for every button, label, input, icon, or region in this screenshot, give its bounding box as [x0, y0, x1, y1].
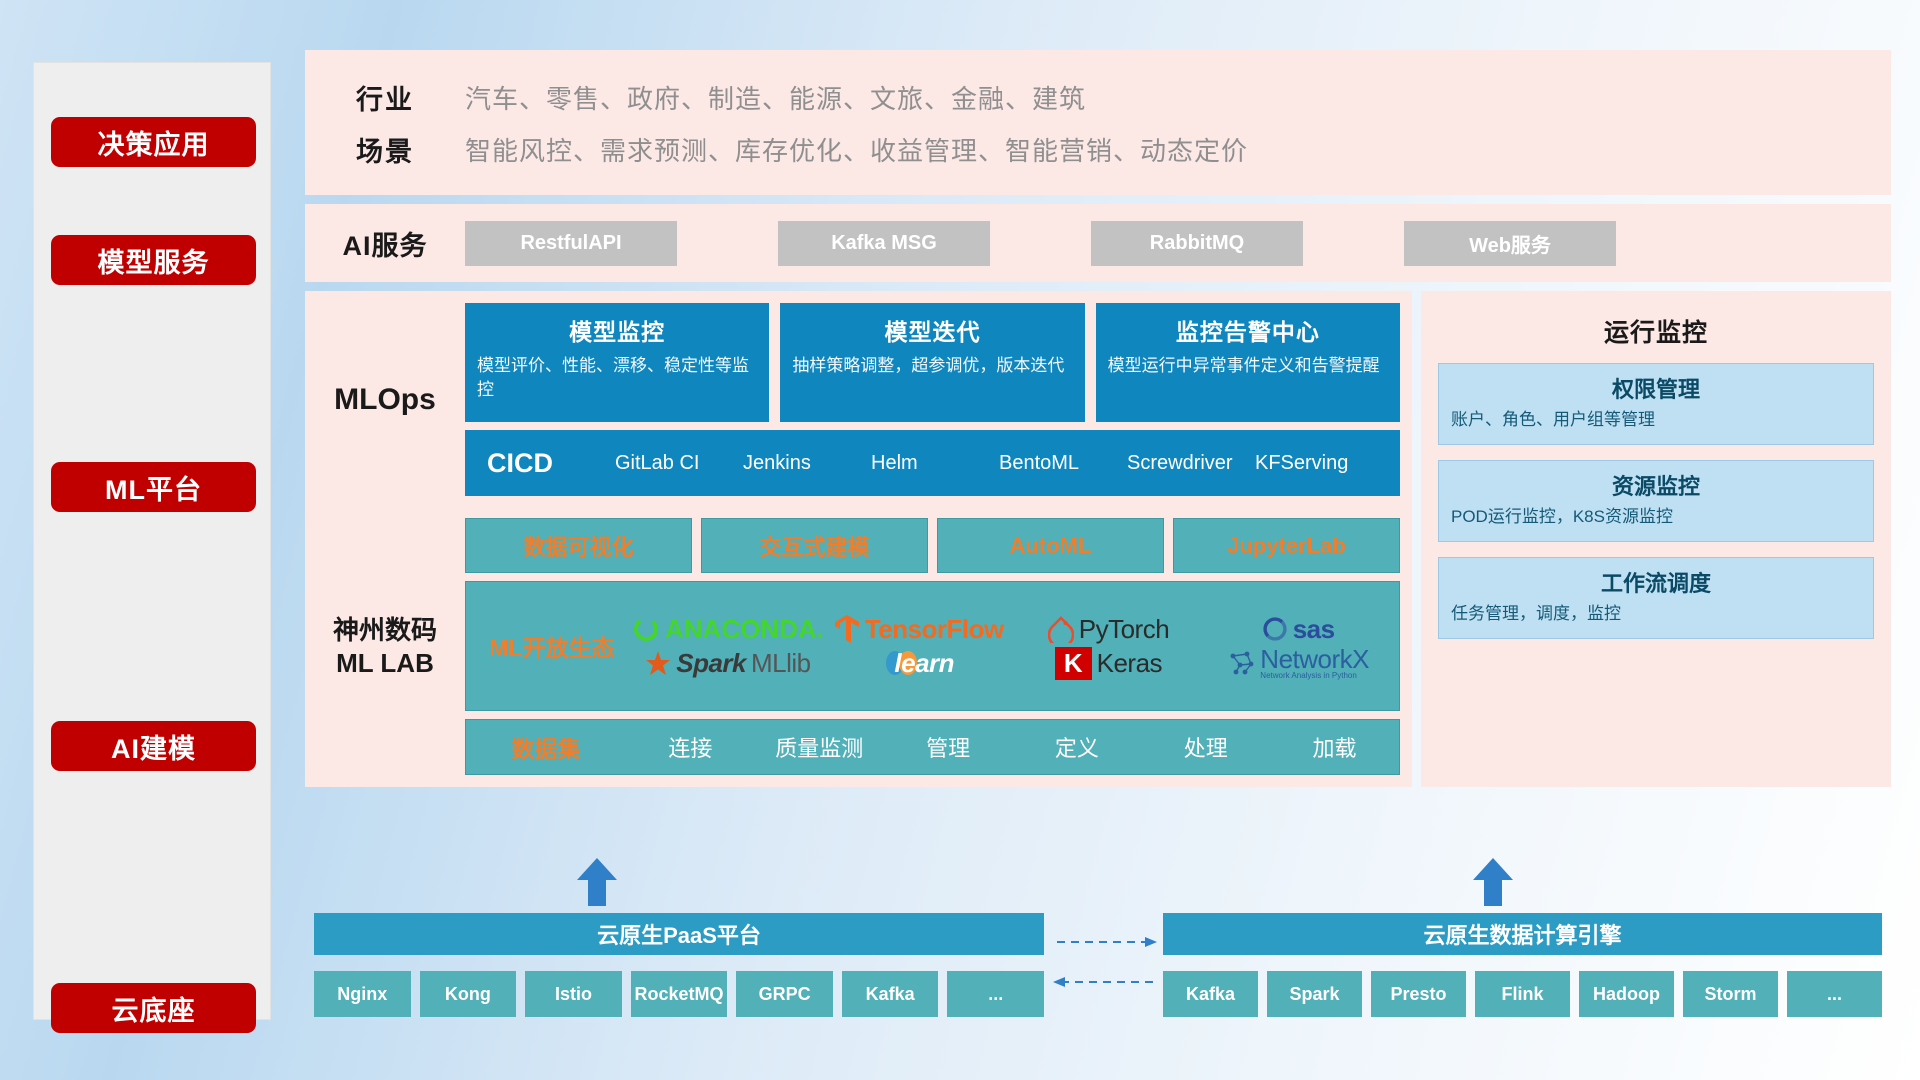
- ai-service-web[interactable]: Web服务: [1404, 221, 1616, 266]
- networkx-sublabel: Network Analysis in Python: [1260, 672, 1369, 680]
- arrow-up-compute-icon: [1471, 858, 1515, 906]
- ml-open-ecosystem-label: ML开放生态: [472, 629, 632, 663]
- ml-lab-label-line1: 神州数码: [305, 614, 465, 647]
- card-title: 监控告警中心: [1108, 313, 1388, 347]
- ml-open-ecosystem: ML开放生态 ANACONDA.: [465, 581, 1400, 711]
- mlops-label: MLOps: [305, 383, 465, 417]
- networkx-logo: NetworkX Network Analysis in Python: [1227, 646, 1369, 680]
- mlops-card-model-iteration[interactable]: 模型迭代 抽样策略调整，超参调优，版本迭代: [780, 303, 1084, 422]
- scenario-value: 智能风控、需求预测、库存优化、收益管理、智能营销、动态定价: [465, 131, 1248, 168]
- scikit-learn-logo: learn: [883, 648, 954, 679]
- rail-item-decision-app[interactable]: 决策应用: [51, 117, 256, 167]
- compute-chip-spark[interactable]: Spark: [1267, 971, 1362, 1017]
- anaconda-icon: [632, 615, 660, 643]
- run-monitor-card-resource[interactable]: 资源监控 POD运行监控，K8S资源监控: [1438, 460, 1874, 542]
- cloud-chip-more[interactable]: ...: [947, 971, 1044, 1017]
- sas-icon: [1262, 616, 1288, 642]
- ml-lab-label: 神州数码 ML LAB: [305, 614, 465, 679]
- card-title: 资源监控: [1451, 469, 1861, 501]
- dataset-item-quality[interactable]: 质量监测: [755, 731, 884, 763]
- industry-label: 行业: [305, 78, 465, 117]
- cloud-chip-kong[interactable]: Kong: [420, 971, 517, 1017]
- tensorflow-logo: TensorFlow: [834, 614, 1004, 645]
- anaconda-label: ANACONDA.: [665, 614, 824, 645]
- card-title: 模型迭代: [792, 313, 1072, 347]
- cloud-chip-nginx[interactable]: Nginx: [314, 971, 411, 1017]
- tensorflow-icon: [834, 614, 860, 644]
- ai-service-band: AI服务 RestfulAPI Kafka MSG RabbitMQ Web服务: [305, 204, 1891, 282]
- dataset-item-define[interactable]: 定义: [1012, 731, 1141, 763]
- rail-item-cloud-base[interactable]: 云底座: [51, 983, 256, 1033]
- cloud-compute-title: 云原生数据计算引擎: [1163, 913, 1882, 955]
- cloud-paas-chips: Nginx Kong Istio RocketMQ GRPC Kafka ...: [314, 971, 1044, 1017]
- cicd-item-screwdriver[interactable]: Screwdriver: [1127, 452, 1255, 475]
- ml-lab-tool-automl[interactable]: AutoML: [937, 518, 1164, 573]
- compute-chip-more[interactable]: ...: [1787, 971, 1882, 1017]
- rail-item-ml-platform[interactable]: ML平台: [51, 462, 256, 512]
- card-title: 权限管理: [1451, 372, 1861, 404]
- mlops-card-alert-center[interactable]: 监控告警中心 模型运行中异常事件定义和告警提醒: [1096, 303, 1400, 422]
- rail-item-ai-modeling[interactable]: AI建模: [51, 721, 256, 771]
- dataset-item-process[interactable]: 处理: [1141, 731, 1270, 763]
- dataset-item-load[interactable]: 加载: [1270, 731, 1399, 763]
- cloud-paas-column: 云原生PaaS平台 Nginx Kong Istio RocketMQ GRPC…: [314, 913, 1044, 1017]
- mllib-label: MLlib: [751, 648, 811, 679]
- tensorflow-label: TensorFlow: [865, 614, 1004, 645]
- card-desc: 账户、角色、用户组等管理: [1451, 409, 1861, 432]
- dataset-item-connect[interactable]: 连接: [626, 731, 755, 763]
- industry-row: 行业 汽车、零售、政府、制造、能源、文旅、金融、建筑: [305, 72, 1891, 122]
- compute-chip-hadoop[interactable]: Hadoop: [1579, 971, 1674, 1017]
- cloud-base-layer: 云原生PaaS平台 Nginx Kong Istio RocketMQ GRPC…: [305, 888, 1891, 1038]
- bidirectional-dashed-link-icon: [1053, 926, 1157, 998]
- ml-lab-band: 神州数码 ML LAB 数据可视化 交互式建模 AutoML JupyterLa…: [305, 508, 1412, 787]
- keras-label: Keras: [1097, 648, 1162, 679]
- ecosystem-logo-grid: ANACONDA. TensorFlow: [632, 612, 1393, 680]
- cicd-title: CICD: [487, 448, 615, 479]
- ml-lab-label-line2: ML LAB: [305, 647, 465, 680]
- dataset-label: 数据集: [466, 730, 626, 764]
- compute-chip-storm[interactable]: Storm: [1683, 971, 1778, 1017]
- cloud-compute-column: 云原生数据计算引擎 Kafka Spark Presto Flink Hadoo…: [1163, 913, 1882, 1017]
- industry-scenario-band: 行业 汽车、零售、政府、制造、能源、文旅、金融、建筑 场景 智能风控、需求预测、…: [305, 50, 1891, 195]
- sas-label: sas: [1293, 614, 1335, 645]
- spark-label: Spark: [676, 648, 746, 679]
- ai-service-rabbitmq[interactable]: RabbitMQ: [1091, 221, 1303, 266]
- card-desc: POD运行监控，K8S资源监控: [1451, 506, 1861, 529]
- scenario-label: 场景: [305, 130, 465, 169]
- ml-lab-tools: 数据可视化 交互式建模 AutoML JupyterLab: [465, 518, 1400, 573]
- architecture-main: 行业 汽车、零售、政府、制造、能源、文旅、金融、建筑 场景 智能风控、需求预测、…: [305, 50, 1891, 796]
- ai-service-label: AI服务: [305, 224, 465, 263]
- ai-service-restfulapi[interactable]: RestfulAPI: [465, 221, 677, 266]
- cloud-paas-title: 云原生PaaS平台: [314, 913, 1044, 955]
- cloud-chip-grpc[interactable]: GRPC: [736, 971, 833, 1017]
- card-desc: 任务管理，调度，监控: [1451, 603, 1861, 626]
- mlops-cards: 模型监控 模型评价、性能、漂移、稳定性等监控 模型迭代 抽样策略调整，超参调优，…: [465, 303, 1400, 422]
- mlops-card-model-monitoring[interactable]: 模型监控 模型评价、性能、漂移、稳定性等监控: [465, 303, 769, 422]
- run-monitor-title: 运行监控: [1438, 301, 1874, 363]
- networkx-icon: [1227, 649, 1255, 677]
- scikit-learn-label: learn: [894, 648, 954, 679]
- anaconda-logo: ANACONDA.: [632, 614, 824, 645]
- sas-logo: sas: [1262, 614, 1335, 645]
- cicd-item-jenkins[interactable]: Jenkins: [743, 452, 871, 475]
- cicd-item-kfserving[interactable]: KFServing: [1255, 452, 1383, 475]
- run-monitor-card-permission[interactable]: 权限管理 账户、角色、用户组等管理: [1438, 363, 1874, 445]
- run-monitor-sidebar: 运行监控 权限管理 账户、角色、用户组等管理 资源监控 POD运行监控，K8S资…: [1421, 291, 1891, 787]
- ml-lab-tool-jupyterlab[interactable]: JupyterLab: [1173, 518, 1400, 573]
- card-desc: 模型运行中异常事件定义和告警提醒: [1108, 354, 1388, 378]
- dataset-row: 数据集 连接 质量监测 管理 定义 处理 加载: [465, 719, 1400, 775]
- pytorch-label: PyTorch: [1079, 614, 1169, 645]
- cloud-chip-kafka[interactable]: Kafka: [842, 971, 939, 1017]
- mlops-and-monitor-row: MLOps 模型监控 模型评价、性能、漂移、稳定性等监控 模型迭代 抽样策略调整…: [305, 291, 1891, 787]
- spark-mllib-logo: Spark MLlib: [645, 648, 810, 679]
- pytorch-logo: PyTorch: [1048, 614, 1169, 645]
- ai-service-boxes: RestfulAPI Kafka MSG RabbitMQ Web服务: [465, 221, 1616, 266]
- cicd-item-gitlab-ci[interactable]: GitLab CI: [615, 452, 743, 475]
- keras-logo: K Keras: [1055, 647, 1162, 680]
- dataset-item-manage[interactable]: 管理: [884, 731, 1013, 763]
- spark-star-icon: [645, 650, 671, 676]
- keras-mark-icon: K: [1055, 647, 1092, 680]
- cloud-compute-chips: Kafka Spark Presto Flink Hadoop Storm ..…: [1163, 971, 1882, 1017]
- cicd-item-bentoml[interactable]: BentoML: [999, 452, 1127, 475]
- run-monitor-card-workflow[interactable]: 工作流调度 任务管理，调度，监控: [1438, 557, 1874, 639]
- arrow-up-paas-icon: [575, 858, 619, 906]
- ai-service-kafka-msg[interactable]: Kafka MSG: [778, 221, 990, 266]
- pytorch-icon: [1048, 615, 1074, 643]
- networkx-label: NetworkX: [1260, 646, 1369, 672]
- cicd-bar: CICD GitLab CI Jenkins Helm BentoML Scre…: [465, 430, 1400, 496]
- rail-item-model-service[interactable]: 模型服务: [51, 235, 256, 285]
- mlops-band: MLOps 模型监控 模型评价、性能、漂移、稳定性等监控 模型迭代 抽样策略调整…: [305, 291, 1412, 508]
- compute-chip-flink[interactable]: Flink: [1475, 971, 1570, 1017]
- compute-chip-kafka[interactable]: Kafka: [1163, 971, 1258, 1017]
- compute-chip-presto[interactable]: Presto: [1371, 971, 1466, 1017]
- card-desc: 模型评价、性能、漂移、稳定性等监控: [477, 354, 757, 402]
- card-title: 模型监控: [477, 313, 757, 347]
- cloud-chip-istio[interactable]: Istio: [525, 971, 622, 1017]
- cloud-chip-rocketmq[interactable]: RocketMQ: [631, 971, 728, 1017]
- scenario-row: 场景 智能风控、需求预测、库存优化、收益管理、智能营销、动态定价: [305, 124, 1891, 174]
- cicd-item-helm[interactable]: Helm: [871, 452, 999, 475]
- industry-value: 汽车、零售、政府、制造、能源、文旅、金融、建筑: [465, 79, 1086, 116]
- ml-lab-tool-data-visualization[interactable]: 数据可视化: [465, 518, 692, 573]
- ml-lab-tool-interactive-modeling[interactable]: 交互式建模: [701, 518, 928, 573]
- card-title: 工作流调度: [1451, 566, 1861, 598]
- card-desc: 抽样策略调整，超参调优，版本迭代: [792, 354, 1072, 378]
- layer-rail: 决策应用 模型服务 ML平台 AI建模 云底座: [33, 62, 271, 1020]
